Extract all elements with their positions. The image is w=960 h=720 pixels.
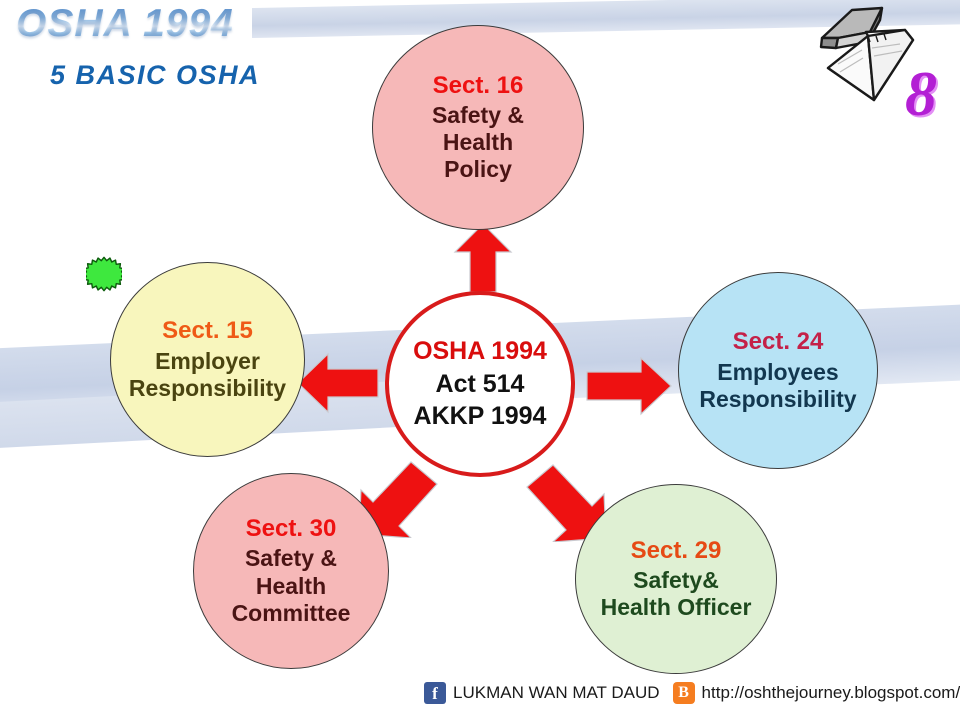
node-sect-16[interactable]: Sect. 16 Safety & Health Policy [372, 25, 584, 230]
node-line: Policy [432, 156, 524, 183]
node-line: Responsibility [699, 386, 856, 413]
node-line: Employees [699, 359, 856, 386]
arrow-left-to-sect15 [296, 352, 380, 414]
node-body-text: Employer Responsibility [123, 348, 292, 402]
center-line-act: Act 514 [436, 368, 525, 401]
node-line: Health [232, 573, 351, 600]
node-section-label: Sect. 15 [162, 317, 253, 345]
node-sect-29[interactable]: Sect. 29 Safety& Health Officer [575, 484, 777, 674]
center-title: OSHA 1994 [413, 335, 547, 368]
node-body-text: Safety& Health Officer [595, 567, 758, 621]
node-sect-15[interactable]: Sect. 15 Employer Responsibility [110, 262, 305, 457]
node-sect-30[interactable]: Sect. 30 Safety & Health Committee [193, 473, 389, 669]
node-line: Health [432, 129, 524, 156]
footer-credit: f LUKMAN WAN MAT DAUD B http://oshthejou… [424, 682, 960, 704]
arrow-up-to-sect16 [452, 222, 514, 294]
node-body-text: Safety & Health Policy [426, 102, 530, 183]
blog-url[interactable]: http://oshthejourney.blogspot.com/ [702, 683, 960, 703]
node-line: Health Officer [601, 594, 752, 621]
facebook-name: LUKMAN WAN MAT DAUD [453, 683, 660, 703]
node-line: Committee [232, 600, 351, 627]
node-line: Responsibility [129, 375, 286, 402]
node-body-text: Safety & Health Committee [226, 545, 357, 626]
node-line: Safety & [432, 102, 524, 129]
facebook-icon[interactable]: f [424, 682, 446, 704]
slide-canvas: OSHA 1994 5 BASIC OSHA 8 [0, 0, 960, 720]
page-subtitle: 5 BASIC OSHA [50, 60, 260, 91]
page-title: OSHA 1994 [16, 2, 234, 46]
center-line-akkp: AKKP 1994 [414, 400, 547, 433]
blogger-icon[interactable]: B [673, 682, 695, 704]
node-body-text: Employees Responsibility [693, 359, 862, 413]
node-section-label: Sect. 30 [246, 515, 337, 543]
arrow-right-to-sect24 [585, 356, 673, 416]
node-section-label: Sect. 24 [733, 328, 824, 356]
node-line: Safety & [232, 545, 351, 572]
node-line: Employer [129, 348, 286, 375]
node-sect-24[interactable]: Sect. 24 Employees Responsibility [678, 272, 878, 469]
node-line: Safety& [601, 567, 752, 594]
node-section-label: Sect. 16 [433, 72, 524, 100]
page-number: 8 [905, 62, 937, 126]
green-starburst-icon [86, 256, 122, 292]
node-section-label: Sect. 29 [631, 537, 722, 565]
node-center-osha-1994[interactable]: OSHA 1994 Act 514 AKKP 1994 [385, 291, 575, 477]
